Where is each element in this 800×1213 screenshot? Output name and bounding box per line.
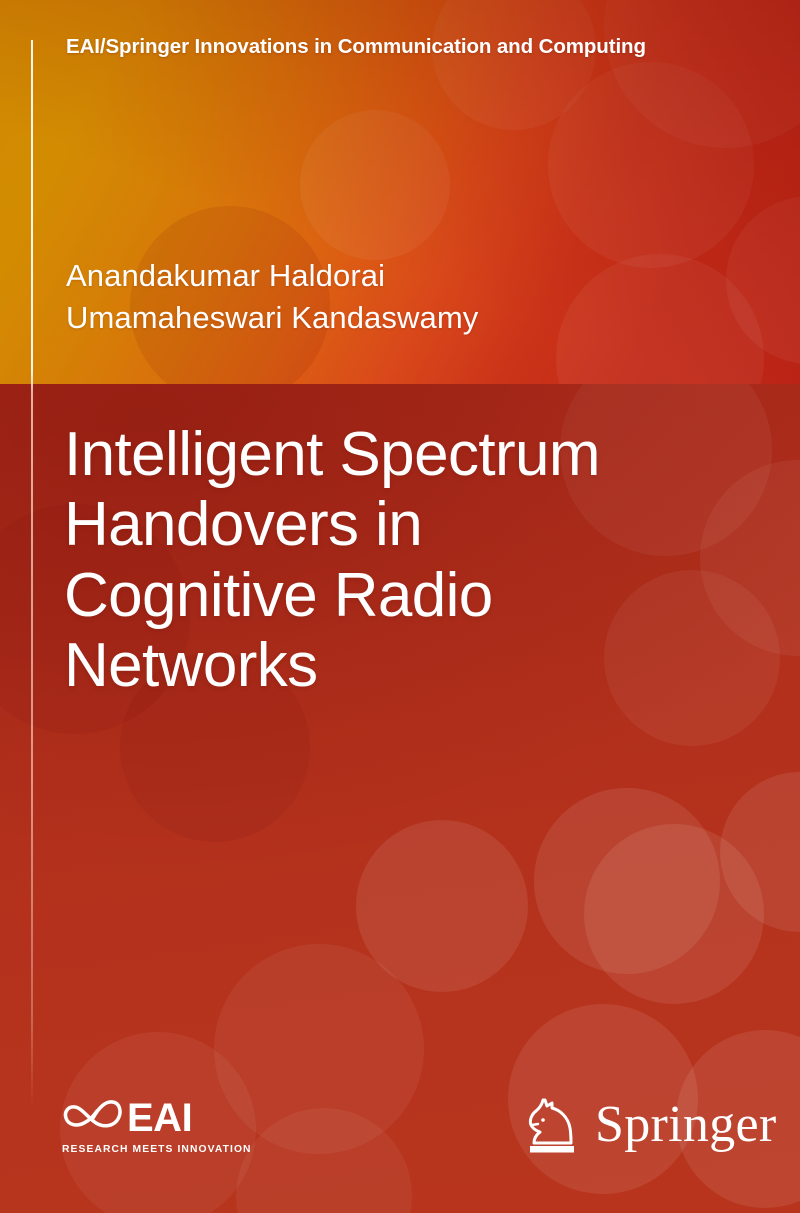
eai-mark-row: EAI bbox=[62, 1094, 222, 1141]
bokeh-circle bbox=[432, 0, 596, 130]
bokeh-circle bbox=[356, 820, 528, 992]
book-cover: EAI/Springer Innovations in Communicatio… bbox=[0, 0, 800, 1213]
springer-wordmark: Springer bbox=[595, 1099, 776, 1151]
bokeh-circle bbox=[584, 824, 764, 1004]
title-line: Intelligent Spectrum bbox=[64, 420, 774, 490]
bokeh-circle bbox=[534, 788, 720, 974]
bokeh-circle bbox=[236, 1108, 412, 1213]
infinity-loop-icon bbox=[62, 1097, 124, 1139]
eai-logo: EAI RESEARCH MEETS INNOVATION bbox=[62, 1094, 222, 1166]
title-line: Networks bbox=[64, 631, 774, 701]
author-name: Umamaheswari Kandaswamy bbox=[66, 297, 766, 339]
springer-logo: Springer bbox=[523, 1091, 776, 1163]
bokeh-circle bbox=[300, 110, 450, 260]
title-line: Handovers in bbox=[64, 490, 774, 560]
title-line: Cognitive Radio bbox=[64, 561, 774, 631]
bokeh-circle bbox=[214, 944, 424, 1154]
bokeh-circle bbox=[720, 772, 800, 932]
knight-chess-piece-icon bbox=[523, 1096, 581, 1158]
series-title: EAI/Springer Innovations in Communicatio… bbox=[66, 36, 766, 59]
author-list: Anandakumar Haldorai Umamaheswari Kandas… bbox=[66, 255, 766, 340]
bokeh-circle bbox=[548, 62, 754, 268]
author-name: Anandakumar Haldorai bbox=[66, 255, 766, 297]
vertical-rule bbox=[31, 40, 33, 1108]
bokeh-circle bbox=[604, 0, 800, 148]
eai-wordmark: EAI bbox=[127, 1098, 192, 1138]
page-title: Intelligent Spectrum Handovers in Cognit… bbox=[64, 420, 774, 701]
eai-tagline: RESEARCH MEETS INNOVATION bbox=[62, 1144, 222, 1155]
